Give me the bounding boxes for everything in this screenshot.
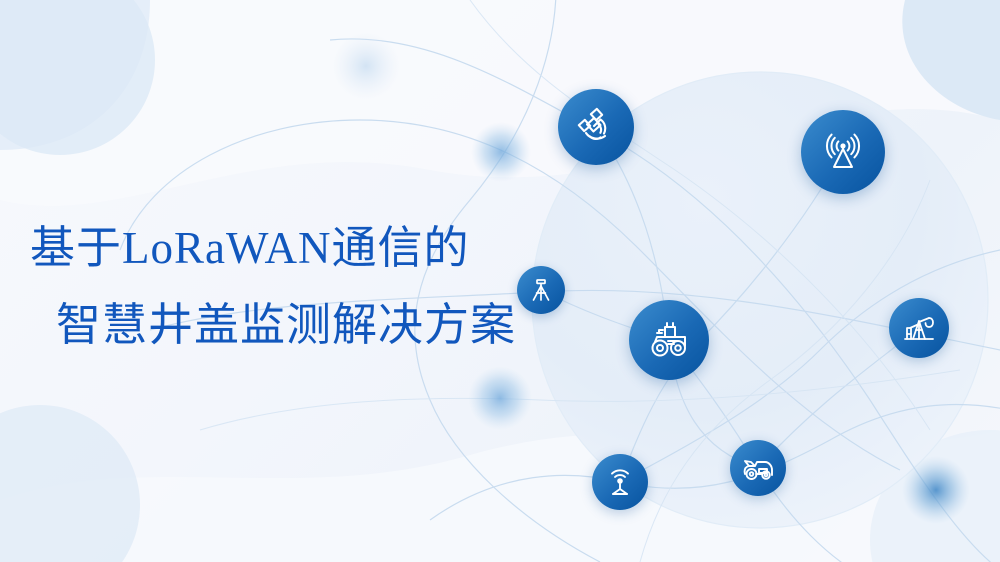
tractor-icon bbox=[644, 315, 694, 365]
wireless-sensor-icon bbox=[602, 464, 638, 500]
slide-canvas: 基于LoRaWAN通信的 智慧井盖监测解决方案 bbox=[0, 0, 1000, 562]
harvester-icon bbox=[739, 449, 777, 487]
node-harvester[interactable] bbox=[730, 440, 786, 496]
node-oil-pump[interactable] bbox=[889, 298, 949, 358]
node-satellite[interactable] bbox=[558, 89, 634, 165]
oil-pumpjack-icon bbox=[900, 309, 938, 347]
title-line-2: 智慧井盖监测解决方案 bbox=[56, 303, 590, 348]
node-tractor[interactable] bbox=[629, 300, 709, 380]
radio-tower-icon bbox=[819, 128, 867, 176]
slide-title: 基于LoRaWAN通信的 智慧井盖监测解决方案 bbox=[30, 226, 590, 348]
node-wireless-sensor[interactable] bbox=[592, 454, 648, 510]
node-radio-tower[interactable] bbox=[801, 110, 885, 194]
satellite-icon bbox=[574, 105, 618, 149]
title-line-1: 基于LoRaWAN通信的 bbox=[30, 226, 590, 271]
